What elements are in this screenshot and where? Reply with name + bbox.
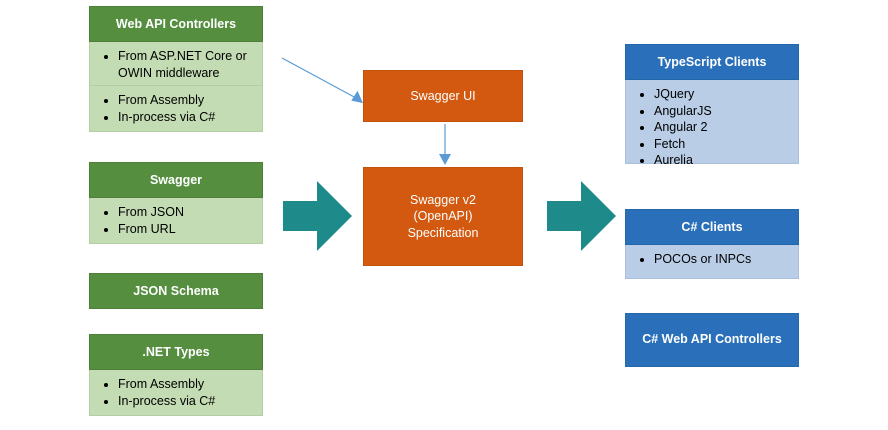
arrow-swaggerui-to-spec — [435, 124, 455, 166]
node-web-api-controllers: Web API Controllers From ASP.NET Core or… — [89, 6, 263, 132]
list-item: In-process via C# — [118, 109, 256, 126]
list-item: From URL — [118, 221, 256, 238]
node-swagger-spec: Swagger v2 (OpenAPI) Specification — [363, 167, 523, 266]
node-body-web-api-controllers-1: From ASP.NET Core or OWIN middleware — [89, 42, 263, 86]
arrow-inputs-to-core — [283, 179, 353, 253]
list-item: AngularJS — [654, 103, 792, 120]
list-item: POCOs or INPCs — [654, 251, 792, 268]
list-item: From JSON — [118, 204, 256, 221]
node-csharp-clients: C# Clients POCOs or INPCs — [625, 209, 799, 279]
list-item: From Assembly — [118, 92, 256, 109]
node-swagger-ui-label: Swagger UI — [410, 88, 475, 104]
arrow-webapi-to-swaggerui — [280, 55, 370, 110]
node-swagger-spec-label: Swagger v2 (OpenAPI) Specification — [408, 192, 479, 241]
list-item: Angular 2 — [654, 119, 792, 136]
node-body-web-api-controllers-2: From Assembly In-process via C# — [89, 86, 263, 132]
node-body-csharp-clients: POCOs or INPCs — [625, 245, 799, 279]
node-header-json-schema: JSON Schema — [89, 273, 263, 309]
node-swagger-ui: Swagger UI — [363, 70, 523, 122]
node-header-dotnet-types: .NET Types — [89, 334, 263, 370]
node-json-schema: JSON Schema — [89, 273, 263, 309]
list-item: From Assembly — [118, 376, 256, 393]
node-body-swagger-input: From JSON From URL — [89, 198, 263, 244]
node-header-csharp-clients: C# Clients — [625, 209, 799, 245]
node-body-dotnet-types: From Assembly In-process via C# — [89, 370, 263, 416]
arrow-core-to-outputs — [547, 179, 617, 253]
list-item: In-process via C# — [118, 393, 256, 410]
node-header-web-api-controllers: Web API Controllers — [89, 6, 263, 42]
list-item: Fetch — [654, 136, 792, 153]
node-dotnet-types: .NET Types From Assembly In-process via … — [89, 334, 263, 416]
node-header-swagger-input: Swagger — [89, 162, 263, 198]
diagram-canvas: Web API Controllers From ASP.NET Core or… — [0, 0, 888, 430]
list-item: JQuery — [654, 86, 792, 103]
node-header-typescript-clients: TypeScript Clients — [625, 44, 799, 80]
node-csharp-web-api-controllers: C# Web API Controllers — [625, 313, 799, 367]
list-item: Aurelia — [654, 152, 792, 169]
node-typescript-clients: TypeScript Clients JQuery AngularJS Angu… — [625, 44, 799, 164]
list-item: From ASP.NET Core or OWIN middleware — [118, 48, 256, 81]
node-body-typescript-clients: JQuery AngularJS Angular 2 Fetch Aurelia — [625, 80, 799, 164]
node-csharp-web-api-controllers-label: C# Web API Controllers — [642, 332, 782, 348]
node-swagger-input: Swagger From JSON From URL — [89, 162, 263, 244]
